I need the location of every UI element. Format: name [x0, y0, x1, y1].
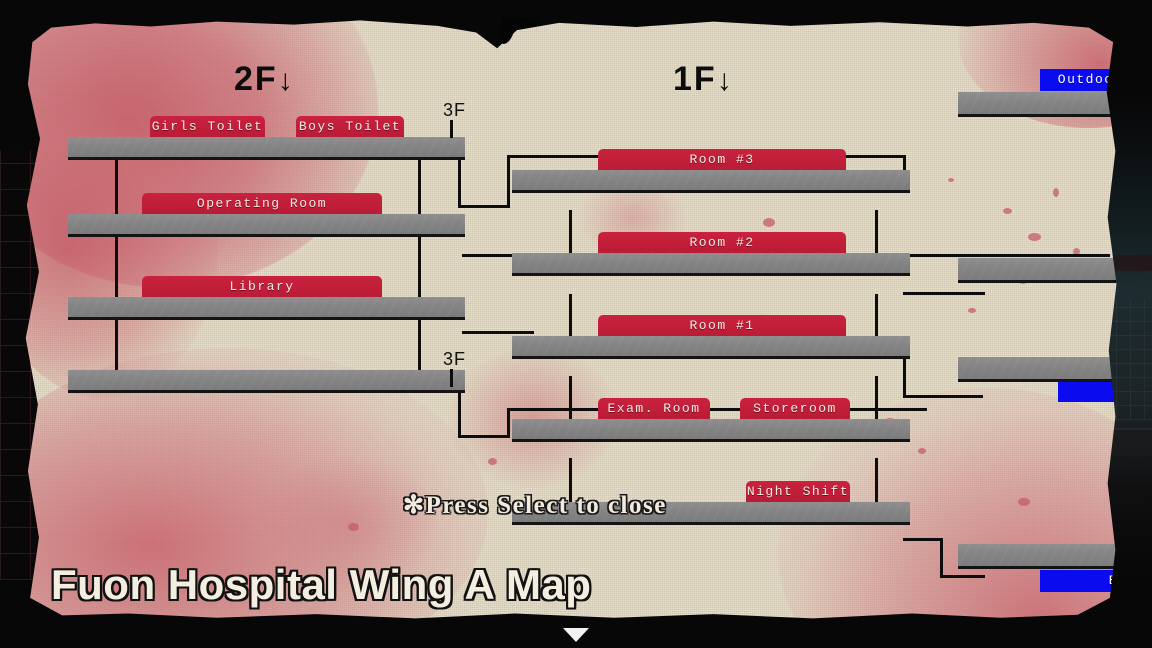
connector-to-balcony-v: [903, 356, 906, 398]
connector-to-reception-h2: [940, 575, 985, 578]
corridor-1f-room-3[interactable]: [512, 170, 910, 193]
blood-fleck: [1003, 208, 1012, 214]
connector-to-reception-h1: [903, 538, 943, 541]
floor-label-2f: 2F: [234, 60, 278, 98]
corridor-2f-top[interactable]: [68, 137, 465, 160]
connector-stair-upper-v: [458, 160, 461, 208]
room-label-girls-toilet[interactable]: Girls Toilet: [150, 116, 265, 138]
corridor-outdoors[interactable]: [958, 92, 1122, 117]
room-label-storeroom[interactable]: Storeroom: [740, 398, 850, 420]
connector-stair-lower-h: [458, 435, 510, 438]
corridor-2f-operating[interactable]: [68, 214, 465, 237]
blood-fleck: [1028, 233, 1041, 241]
arrow-down-icon: ↓: [717, 64, 734, 97]
arrow-down-icon: ↓: [278, 64, 295, 97]
map-paper-sheet: 2F↓ Girls Toilet Boys Toilet Operating R…: [18, 18, 1122, 622]
triangle-down-icon[interactable]: [563, 628, 589, 642]
room-label-library[interactable]: Library: [142, 276, 382, 298]
connector-to-central-corridor: [903, 292, 985, 295]
connector-to-reception-v: [940, 538, 943, 578]
stair-tick-3f-upper: [450, 120, 453, 138]
connector-2f-to-1f-low: [462, 331, 534, 334]
corridor-1f-room-1[interactable]: [512, 336, 910, 359]
corridor-balcony[interactable]: [958, 357, 1122, 382]
blood-fleck: [948, 178, 954, 182]
stair-label-3f-upper: 3F: [443, 100, 466, 121]
stair-label-3f-lower: 3F: [443, 349, 466, 370]
blood-fleck: [918, 448, 926, 454]
map-paper-surface: 2F↓ Girls Toilet Boys Toilet Operating R…: [18, 18, 1122, 622]
connector-to-balcony-h: [903, 395, 983, 398]
corridor-1f-exam[interactable]: [512, 419, 910, 442]
blood-fleck: [488, 458, 497, 465]
corridor-2f-bottom[interactable]: [68, 370, 465, 393]
page-title: Fuon Hospital Wing A Map: [51, 561, 591, 609]
room-label-night-shift[interactable]: Night Shift: [746, 481, 850, 503]
room-label-boys-toilet[interactable]: Boys Toilet: [296, 116, 404, 138]
floor-title-2f: 2F↓: [234, 60, 295, 99]
room-label-room-3[interactable]: Room #3: [598, 149, 846, 171]
room-label-room-2[interactable]: Room #2: [598, 232, 846, 254]
connector-stair-upper-h: [458, 205, 510, 208]
blood-fleck: [968, 308, 976, 313]
corridor-1f-room-2[interactable]: [512, 253, 910, 276]
blood-fleck: [763, 218, 775, 227]
room-label-operating-room[interactable]: Operating Room: [142, 193, 382, 215]
corridor-reception[interactable]: [958, 544, 1122, 569]
stair-tick-3f-lower: [450, 369, 453, 387]
exit-label-entrance[interactable]: Entr: [1040, 570, 1122, 592]
blood-stain-mid-left: [448, 348, 618, 488]
connector-stair-lower-v2: [507, 408, 510, 438]
room-label-room-1[interactable]: Room #1: [598, 315, 846, 337]
blood-fleck: [1053, 188, 1059, 197]
floor-label-1f: 1F: [673, 60, 717, 98]
close-hint-text: ✻Press Select to close: [403, 490, 667, 520]
room-label-exam-room[interactable]: Exam. Room: [598, 398, 710, 420]
blood-fleck: [1018, 498, 1030, 506]
corridor-central[interactable]: [958, 258, 1122, 283]
floor-title-1f: 1F↓: [673, 60, 734, 99]
blood-fleck: [348, 523, 359, 531]
corridor-2f-library[interactable]: [68, 297, 465, 320]
game-screen: 2F↓ Girls Toilet Boys Toilet Operating R…: [0, 0, 1152, 648]
connector-stair-lower-v: [458, 390, 461, 438]
connector-stair-upper-v2: [507, 155, 510, 208]
